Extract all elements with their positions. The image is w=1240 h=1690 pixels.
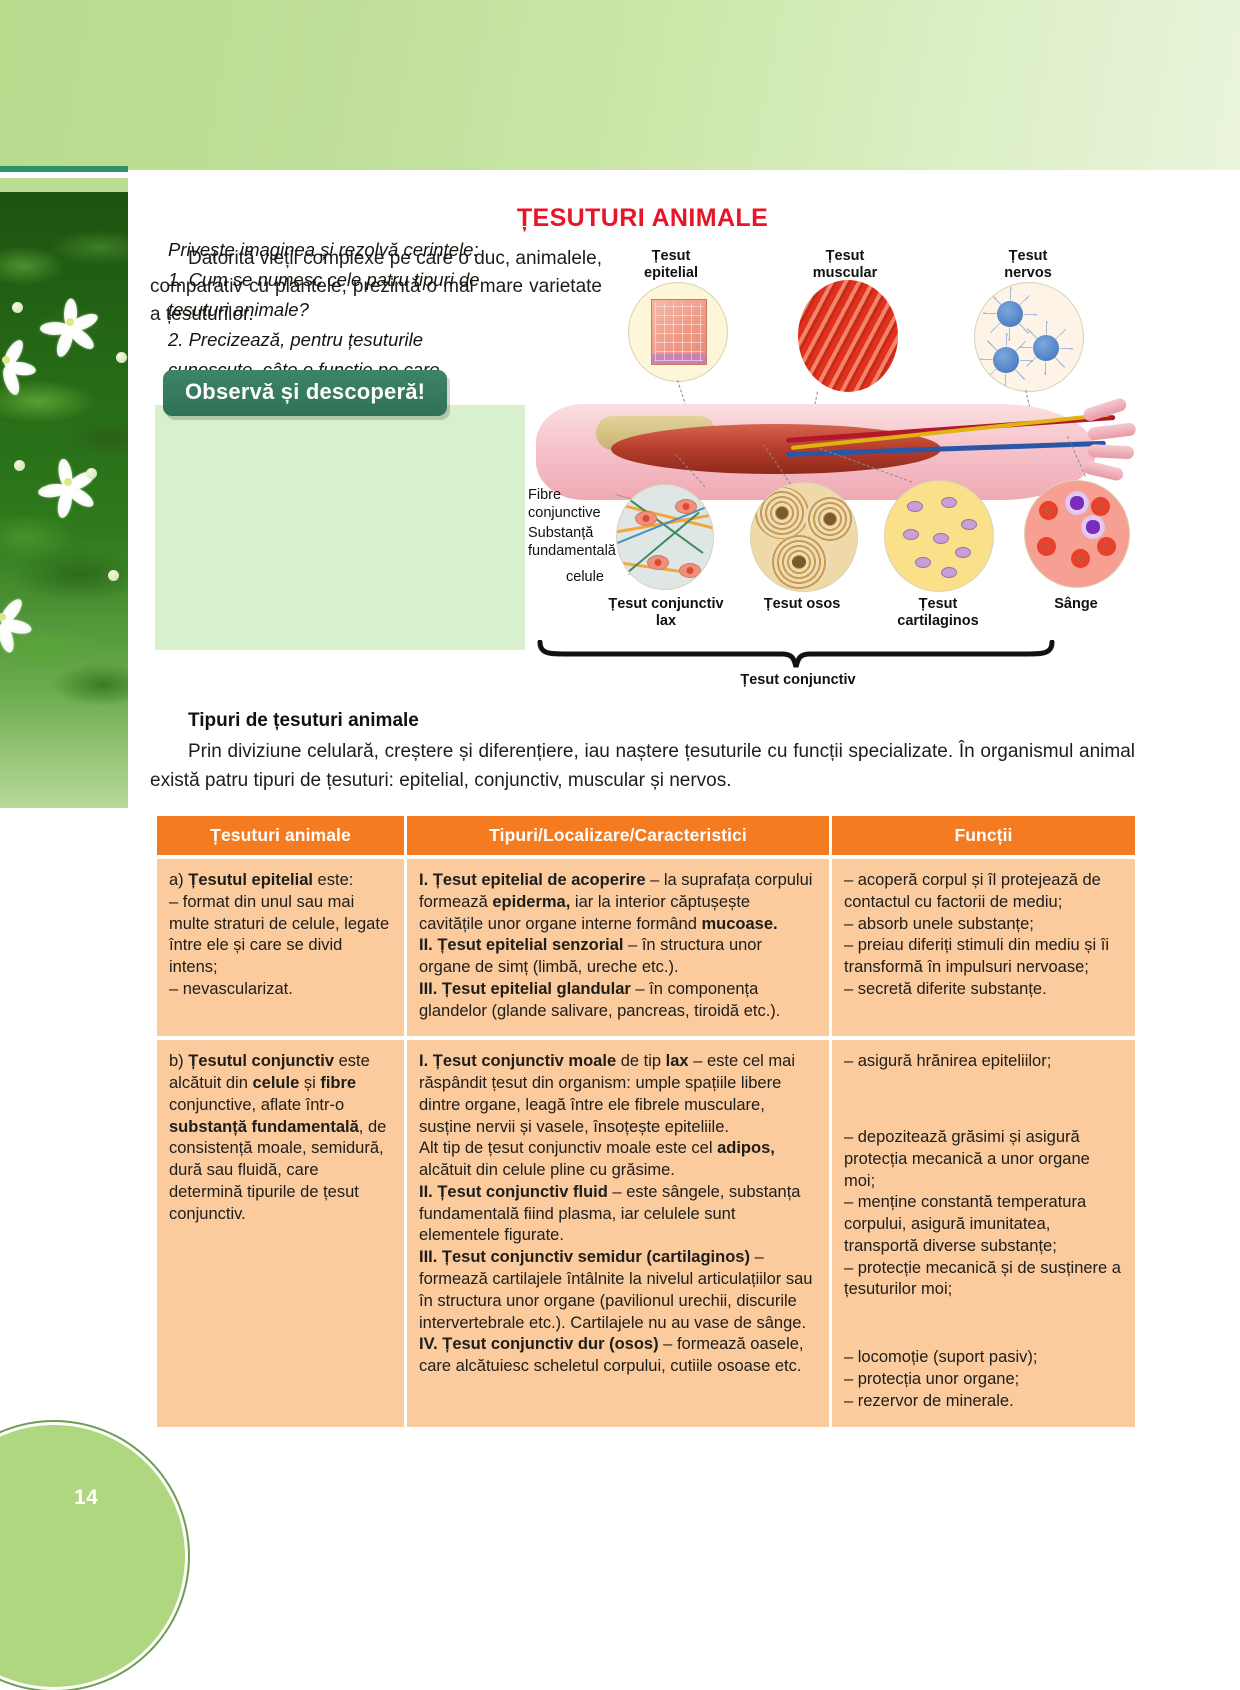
figure-label-cartilaginos-line2: cartilaginos — [880, 613, 996, 630]
chondrocyte — [933, 533, 949, 544]
r2c2-b6: IV. Țesut conjunctiv dur (osos) — [419, 1335, 659, 1353]
r1c1-rest: este: — [313, 871, 353, 889]
figure-label-fibre-conjunctive: Fibre conjunctive — [528, 486, 614, 522]
micrograph-nervos — [974, 282, 1084, 392]
r2c3-g2-0: – locomoție (suport pasiv); — [844, 1348, 1038, 1366]
red-blood-cell — [1071, 549, 1090, 568]
observa-line-1: 1. Cum se numesc cele patru tipuri de țe… — [168, 265, 508, 325]
spacer — [844, 1073, 1123, 1127]
figure-label-lax-line2: lax — [608, 613, 724, 630]
cell-epitelial-types: I. Țesut epitelial de acoperire – la sup… — [407, 855, 832, 1036]
r2c2-t0: de tip — [616, 1052, 666, 1070]
figure-label-conjunctiv-lax: Țesut conjunctiv lax — [608, 596, 724, 631]
osteon — [805, 495, 855, 543]
chondrocyte — [941, 497, 957, 508]
r2c1-mid: conjunctive, aflate într-o — [169, 1096, 344, 1114]
figure-label-fibre-line2: conjunctive — [528, 504, 614, 522]
page-title: ȚESUTURI ANIMALE — [150, 204, 1135, 233]
r1c3-bullet-2: – preiau diferiți stimuli din mediu și î… — [844, 936, 1109, 976]
red-blood-cell — [1097, 537, 1116, 556]
brace-icon — [536, 640, 1056, 670]
figure-label-nervos: Țesut nervos — [978, 248, 1078, 283]
table-header-tipuri-localizare: Tipuri/Localizare/Caracteristici — [407, 816, 832, 855]
page-number: 14 — [74, 1486, 98, 1510]
r2c2-t3: alcătuit din celule pline cu grăsime. — [419, 1161, 675, 1179]
flower-bud-icon — [12, 302, 23, 313]
micrograph-conjunctiv-lax — [616, 484, 714, 590]
white-blood-cell — [1081, 515, 1105, 539]
r2c3-g2-2: – rezervor de minerale. — [844, 1392, 1014, 1410]
table-header-functii: Funcții — [832, 816, 1135, 855]
red-blood-cell — [1039, 501, 1058, 520]
figure-label-epitelial-line2: epitelial — [626, 265, 716, 282]
figure-label-epitelial-line1: Țesut — [626, 248, 716, 265]
fibroblast-cell — [675, 499, 697, 514]
table-header-row: Țesuturi animale Tipuri/Localizare/Carac… — [157, 816, 1135, 855]
cell-conjunctiv-types: I. Țesut conjunctiv moale de tip lax – e… — [407, 1036, 832, 1426]
table-row: b) Țesutul conjunctiv este alcătuit din … — [157, 1036, 1135, 1426]
cell-epitelial-definition: a) Țesutul epitelial este: – format din … — [157, 855, 407, 1036]
fibroblast-cell — [679, 563, 701, 578]
figure-label-sange-line1: Sânge — [1018, 596, 1134, 613]
r2c2-b1: lax — [666, 1052, 689, 1070]
neuron-cell — [1033, 335, 1059, 361]
osteon — [769, 535, 829, 589]
figure-label-muscular: Țesut muscular — [795, 248, 895, 283]
flower-bud-icon — [86, 468, 97, 479]
red-blood-cell — [1091, 497, 1110, 516]
tissue-diagram-figure: Țesut epitelial Țesut muscular Țesut ner… — [528, 248, 1135, 698]
spacer — [844, 1301, 1123, 1347]
figure-brace — [536, 640, 1056, 670]
flower-bud-icon — [116, 352, 127, 363]
types-heading: Tipuri de țesuturi animale — [188, 710, 419, 732]
micrograph-muscular — [798, 280, 898, 392]
cell-epitelial-functions: – acoperă corpul și îl protejează de con… — [832, 855, 1135, 1036]
micrograph-osos — [750, 482, 858, 592]
finger — [1083, 460, 1125, 482]
header-rule-dark — [0, 166, 128, 172]
figure-label-osos-line1: Țesut osos — [744, 596, 860, 613]
r2c2-b4: II. Țesut conjunctiv fluid — [419, 1183, 608, 1201]
figure-brace-label: Țesut conjunctiv — [698, 672, 898, 689]
figure-label-nervos-line2: nervos — [978, 265, 1078, 282]
chondrocyte — [955, 547, 971, 558]
chondrocyte — [903, 529, 919, 540]
red-blood-cell — [1037, 537, 1056, 556]
r1c2-b2: mucoase. — [702, 915, 778, 933]
chondrocyte — [907, 501, 923, 512]
epithelium-cube — [651, 299, 708, 366]
page-number-circle — [0, 1422, 188, 1690]
r2c1-celule: celule — [252, 1074, 299, 1092]
chondrocyte — [941, 567, 957, 578]
observa-line-0: Privește imaginea și rezolvă cerințele: — [168, 235, 508, 265]
r1c3-bullet-0: – acoperă corpul și îl protejează de con… — [844, 871, 1101, 911]
r2c2-b5: III. Țesut conjunctiv semidur (cartilagi… — [419, 1248, 750, 1266]
figure-label-lax-line1: Țesut conjunctiv — [608, 596, 724, 613]
r2c2-t2: Alt tip de țesut conjunctiv moale este c… — [419, 1139, 717, 1157]
r2c3-g0-0: – asigură hrănirea epiteliilor; — [844, 1052, 1051, 1070]
r2c1-subst: substanță fundamentală — [169, 1118, 359, 1136]
cell-conjunctiv-definition: b) Țesutul conjunctiv este alcătuit din … — [157, 1036, 407, 1426]
r1c2-b0: I. Țesut epitelial de acoperire — [419, 871, 646, 889]
r1c2-b1: epiderma, — [492, 893, 570, 911]
r2c3-g2-1: – protecția unor organe; — [844, 1370, 1019, 1388]
r2c1-si: și — [299, 1074, 320, 1092]
micrograph-epitelial — [628, 282, 728, 382]
figure-label-osos: Țesut osos — [744, 596, 860, 613]
r1c3-bullet-3: – secretă diferite substanțe. — [844, 980, 1047, 998]
header-gradient-band — [0, 0, 1240, 170]
observa-callout-box — [155, 405, 525, 650]
figure-label-sange: Sânge — [1018, 596, 1134, 613]
figure-label-cartilaginos-line1: Țesut — [880, 596, 996, 613]
r1c2-b4: III. Țesut epitelial glandular — [419, 980, 631, 998]
micrograph-cartilaginos — [884, 480, 994, 592]
table-header-tesuturi-animale: Țesuturi animale — [157, 816, 407, 855]
types-paragraph-text: Prin diviziune celulară, creștere și dif… — [150, 741, 1135, 791]
r2c2-b3: adipos, — [717, 1139, 775, 1157]
observa-badge: Observă și descoperă! — [163, 370, 447, 416]
chondrocyte — [915, 557, 931, 568]
figure-label-fibre-line1: Fibre — [528, 486, 614, 504]
neuron-cell — [997, 301, 1023, 327]
osteon — [755, 487, 809, 539]
finger — [1088, 444, 1135, 459]
white-blood-cell — [1065, 491, 1089, 515]
header-rule-light — [0, 178, 128, 192]
figure-label-muscular-line1: Țesut — [795, 248, 895, 265]
types-paragraph: Prin diviziune celulară, creștere și dif… — [150, 738, 1135, 795]
flower-bud-icon — [14, 460, 25, 471]
table-row: a) Țesutul epitelial este: – format din … — [157, 855, 1135, 1036]
r1c1-bullet-0: – format din unul sau mai multe straturi… — [169, 893, 389, 976]
neuron-cell — [993, 347, 1019, 373]
fibroblast-cell — [647, 555, 669, 570]
r1c1-bullet-1: – nevascularizat. — [169, 980, 293, 998]
r2c2-b0: I. Țesut conjunctiv moale — [419, 1052, 616, 1070]
r2c3-g1-1: – menține constantă temperatura corpului… — [844, 1193, 1086, 1255]
decorative-plant-photo — [0, 192, 128, 808]
tissue-table: Țesuturi animale Tipuri/Localizare/Carac… — [157, 816, 1135, 1427]
cell-conjunctiv-functions: – asigură hrănirea epiteliilor; – depozi… — [832, 1036, 1135, 1426]
r2c1-bold: Țesutul conjunctiv — [188, 1052, 334, 1070]
figure-label-nervos-line1: Țesut — [978, 248, 1078, 265]
r2c3-g1-0: – depozitează grăsimi și asigură protecț… — [844, 1128, 1090, 1190]
r1c2-b3: II. Țesut epitelial senzorial — [419, 936, 623, 954]
chondrocyte — [961, 519, 977, 530]
r1c1-bold: Țesutul epitelial — [188, 871, 313, 889]
figure-label-epitelial: Țesut epitelial — [626, 248, 716, 283]
figure-label-cartilaginos: Țesut cartilaginos — [880, 596, 996, 631]
fibroblast-cell — [635, 511, 657, 526]
micrograph-sange — [1024, 480, 1130, 588]
r1c3-bullet-1: – absorb unele substanțe; — [844, 915, 1034, 933]
page-content: ȚESUTURI ANIMALE Datorită vieții complex… — [150, 190, 1135, 233]
flower-bud-icon — [108, 570, 119, 581]
finger — [1087, 422, 1136, 441]
r2c3-g1-2: – protecție mecanică și de susținere a ț… — [844, 1259, 1121, 1299]
r1c1-prefix: a) — [169, 871, 188, 889]
r2c1-prefix: b) — [169, 1052, 188, 1070]
r2c1-fibre: fibre — [320, 1074, 356, 1092]
